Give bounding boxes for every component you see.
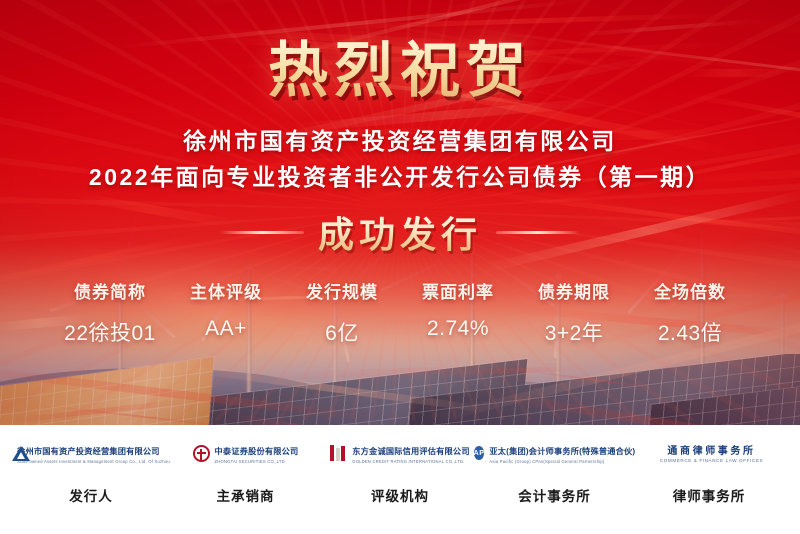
partner-name-en: Commerce & Finance Law Offices [660,459,763,464]
partner-logo: 中泰证券股份有限公司ZHONGTAI SECURITIES CO.,LTD. [171,439,321,467]
partner-name-cn: 东方金诚国际信用评估有限公司 [352,447,469,456]
stat-cell: 债券简称22徐投01 [62,278,158,347]
partner-logo-text: 中泰证券股份有限公司ZHONGTAI SECURITIES CO.,LTD. [215,442,299,464]
circle-cross-logo-icon [193,445,210,462]
partner-name-en: GOLDEN CREDIT RATING INTERNATIONAL CO.,L… [352,460,469,464]
partner-role: 评级机构 [325,485,475,505]
bond-stats-table: 债券简称22徐投01主体评级AA+发行规模6亿票面利率2.74%债券期限3+2年… [62,278,738,347]
stat-value: 2.74% [410,317,506,341]
partner-logo: AP亚太(集团)会计师事务所(特殊普通合伙)Asia Pacific (Grou… [480,439,630,467]
partner-会计事务所: AP亚太(集团)会计师事务所(特殊普通合伙)Asia Pacific (Grou… [480,439,630,505]
partner-role: 律师事务所 [634,485,784,505]
success-banner: 成功发行 [0,206,800,258]
success-banner-label: 成功发行 [318,206,482,258]
partner-name-cn: 中泰证券股份有限公司 [215,447,299,456]
partner-role: 发行人 [16,485,166,505]
page-title: 热烈祝贺 [0,22,800,109]
partner-logo: 徐州市国有资产投资经营集团有限公司State-owned Assets Inve… [16,439,166,467]
stat-value: 6亿 [294,317,390,347]
partner-role: 会计事务所 [480,485,630,505]
partner-评级机构: 东方金诚国际信用评估有限公司GOLDEN CREDIT RATING INTER… [325,439,475,505]
partner-logo-text: 东方金诚国际信用评估有限公司GOLDEN CREDIT RATING INTER… [352,442,469,464]
stat-cell: 主体评级AA+ [178,278,274,347]
issuer-subtitle: 徐州市国有资产投资经营集团有限公司 [0,122,800,156]
stat-value: 3+2年 [526,317,622,347]
stat-label: 债券期限 [526,278,622,303]
partner-role: 主承销商 [171,485,321,505]
partner-name-cn: 徐州市国有资产投资经营集团有限公司 [17,447,160,456]
partner-logo-text: 亚太(集团)会计师事务所(特殊普通合伙)Asia Pacific (Group)… [489,442,635,464]
partner-律师事务所: 通商律师事务所Commerce & Finance Law Offices律师事… [634,439,784,505]
stat-value: AA+ [178,317,274,341]
stat-value: 22徐投01 [62,317,158,347]
stat-cell: 全场倍数2.43倍 [642,278,738,347]
partner-name-cn: 通商律师事务所 [667,446,755,457]
partner-logo-text: 通商律师事务所Commerce & Finance Law Offices [660,442,763,465]
partner-logo: 通商律师事务所Commerce & Finance Law Offices [634,439,784,467]
partner-logo: 东方金诚国际信用评估有限公司GOLDEN CREDIT RATING INTER… [325,439,475,467]
stat-cell: 债券期限3+2年 [526,278,622,347]
stat-value: 2.43倍 [642,317,738,347]
book-bars-logo-icon [330,445,347,461]
partner-list: 徐州市国有资产投资经营集团有限公司State-owned Assets Inve… [0,425,800,534]
stat-label: 主体评级 [178,278,274,303]
stat-cell: 票面利率2.74% [410,278,506,347]
stat-label: 发行规模 [294,278,390,303]
partner-name-cn: 亚太(集团)会计师事务所(特殊普通合伙) [489,447,635,456]
banner-rule-right [496,231,580,234]
partner-name-en: Asia Pacific (Group) CPAs(Special Genera… [489,460,635,464]
banner-rule-left [220,231,304,234]
stat-label: 票面利率 [410,278,506,303]
partner-发行人: 徐州市国有资产投资经营集团有限公司State-owned Assets Inve… [16,439,166,505]
ap-oval-logo-icon: AP [474,446,485,460]
footer-band: 徐州市国有资产投资经营集团有限公司State-owned Assets Inve… [0,425,800,534]
partner-name-en: ZHONGTAI SECURITIES CO.,LTD. [215,460,299,464]
bond-issuance-celebration-poster: 热烈祝贺 徐州市国有资产投资经营集团有限公司 2022年面向专业投资者非公开发行… [0,0,800,534]
stat-label: 全场倍数 [642,278,738,303]
stat-cell: 发行规模6亿 [294,278,390,347]
partner-name-en: State-owned Assets Investment & Manageme… [17,460,170,464]
partner-主承销商: 中泰证券股份有限公司ZHONGTAI SECURITIES CO.,LTD.主承… [171,439,321,505]
partner-logo-text: 徐州市国有资产投资经营集团有限公司State-owned Assets Inve… [17,442,170,464]
poster-content: 热烈祝贺 徐州市国有资产投资经营集团有限公司 2022年面向专业投资者非公开发行… [0,0,800,534]
bond-subtitle: 2022年面向专业投资者非公开发行公司债券（第一期） [0,158,800,192]
stat-label: 债券简称 [62,278,158,303]
